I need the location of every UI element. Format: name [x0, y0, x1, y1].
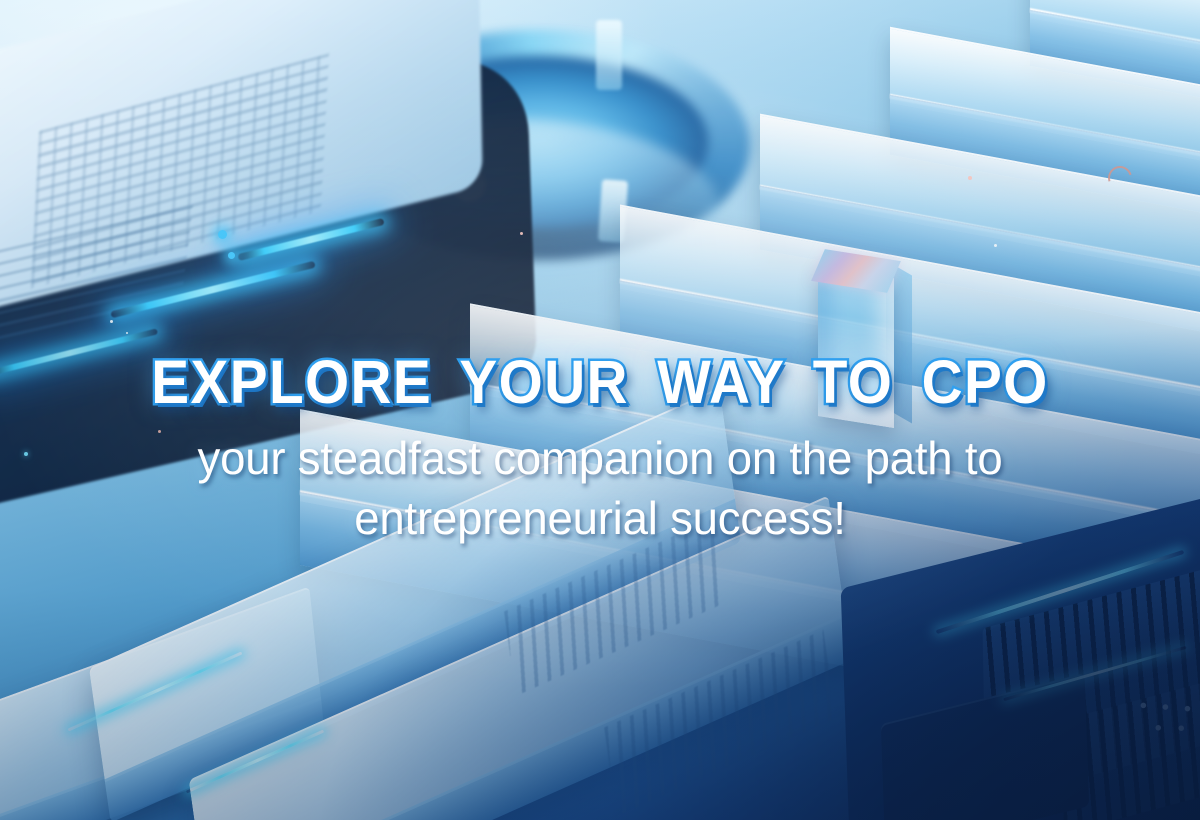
dust-speck: [126, 332, 128, 334]
dust-speck: [110, 320, 113, 323]
page-title: EXPLORE YOUR WAY TO CPO: [42, 352, 1158, 413]
hero-text-block: EXPLORE YOUR WAY TO CPO your steadfast c…: [0, 352, 1200, 549]
device-led-b: [228, 252, 235, 259]
page-subtitle: your steadfast companion on the path to …: [6, 429, 1194, 549]
dust-speck: [968, 176, 972, 180]
device-led-a: [218, 230, 227, 239]
page-subtitle-line-2: entrepreneurial success!: [6, 489, 1194, 549]
hero-banner: EXPLORE YOUR WAY TO CPO your steadfast c…: [0, 0, 1200, 820]
dust-speck: [520, 232, 523, 235]
ring-pin-top: [596, 20, 622, 90]
page-subtitle-line-1: your steadfast companion on the path to: [6, 429, 1194, 489]
dust-speck: [994, 244, 997, 247]
